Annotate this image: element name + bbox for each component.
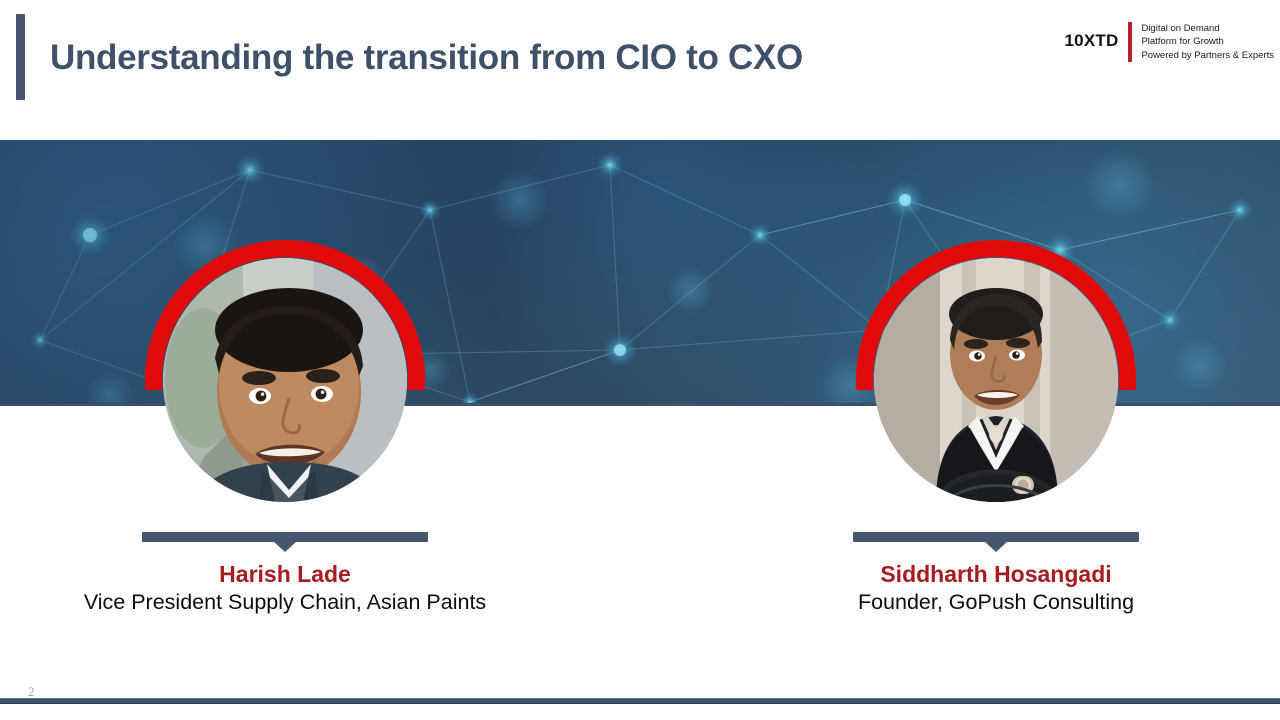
name-divider-left (142, 532, 428, 542)
speaker-name-left: Harish Lade (51, 560, 519, 589)
avatar-harish-lade (163, 258, 407, 502)
speaker-card-right: Siddharth Hosangadi Founder, GoPush Cons… (762, 240, 1230, 616)
logo-divider (1128, 22, 1132, 62)
speaker-role-right: Founder, GoPush Consulting (762, 589, 1230, 616)
footer-divider (0, 698, 1280, 704)
avatar-wrap-left (145, 240, 425, 528)
page-title: Understanding the transition from CIO to… (50, 38, 803, 78)
avatar-wrap-right (856, 240, 1136, 528)
logo-tagline-line-2: Platform for Growth (1141, 35, 1274, 48)
logo-tagline-line-1: Digital on Demand (1141, 22, 1274, 35)
avatar-siddharth-hosangadi (874, 258, 1118, 502)
brand-logo: 10XTD Digital on Demand Platform for Gro… (1065, 22, 1274, 62)
title-accent-bar (16, 14, 25, 100)
name-divider-right (853, 532, 1139, 542)
speaker-name-right: Siddharth Hosangadi (762, 560, 1230, 589)
logo-tagline-line-3: Powered by Partners & Experts (1141, 49, 1274, 62)
slide: Understanding the transition from CIO to… (0, 0, 1280, 720)
speaker-card-left: Harish Lade Vice President Supply Chain,… (51, 240, 519, 616)
logo-wordmark: 10XTD (1065, 22, 1129, 49)
speaker-role-left: Vice President Supply Chain, Asian Paint… (51, 589, 519, 616)
logo-tagline: Digital on Demand Platform for Growth Po… (1141, 22, 1274, 62)
